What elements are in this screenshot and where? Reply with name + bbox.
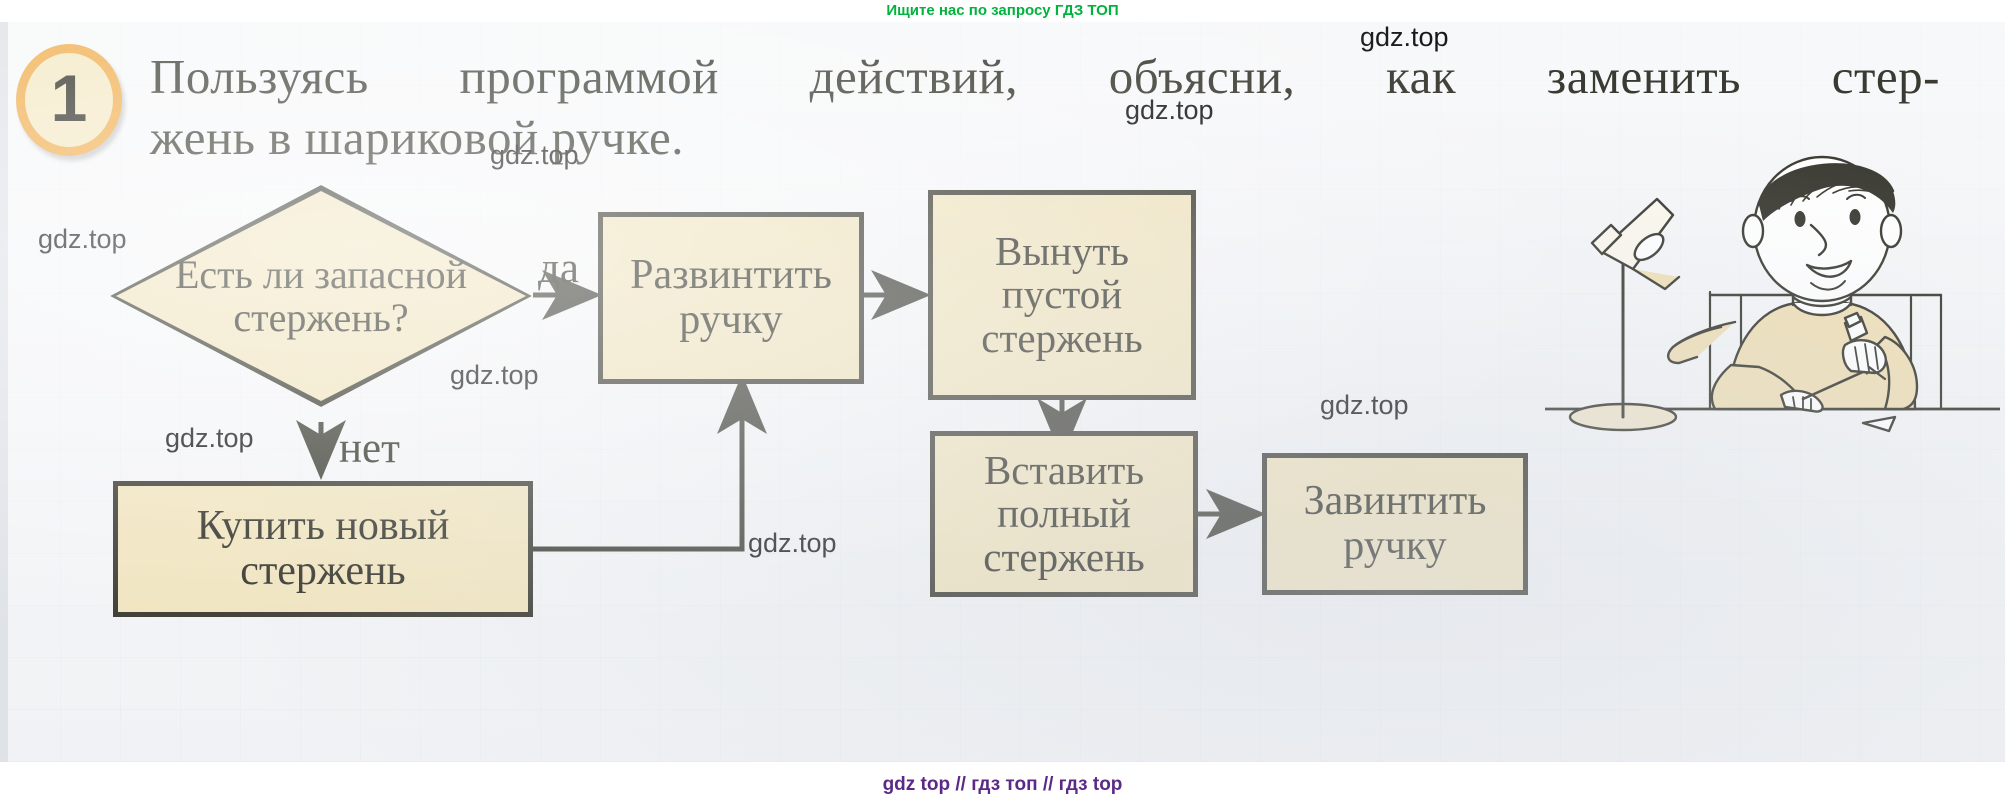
flow-node-screw[interactable]: Завинтить ручку [1262,453,1528,595]
remove-line-3: стержень [973,317,1150,360]
illustration-svg [1545,147,2000,447]
promo-top-banner: Ищите нас по запросу ГДЗ ТОП [0,0,2005,22]
unscrew-line-1: Развинтить [622,253,840,298]
flow-node-decision-label: Есть ли запасной стержень? [110,253,532,339]
watermark: gdz.top [1320,390,1409,421]
flow-node-remove-label: Вынуть пустой стержень [973,230,1150,360]
flow-node-buy[interactable]: Купить новый стержень [113,481,533,617]
watermark: gdz.top [1125,95,1214,126]
flow-node-screw-label: Завинтить ручку [1296,479,1495,568]
decision-line-1: Есть ли [175,252,304,297]
insert-line-2: полный [975,492,1152,535]
edge-buy-to-unscrew [533,384,742,549]
screw-line-2: ручку [1296,524,1495,569]
page-root: Ищите нас по запросу ГДЗ ТОП 1 Пользуясь… [0,0,2005,804]
illustration-boy-at-desk [1545,147,2000,447]
decision-line-2: запасной [314,252,467,297]
watermark: gdz.top [450,360,539,391]
flow-node-remove[interactable]: Вынуть пустой стержень [928,190,1196,400]
insert-line-3: стержень [975,536,1152,579]
remove-line-1: Вынуть [973,230,1150,273]
watermark: gdz.top [38,224,127,255]
remove-line-2: пустой [973,273,1150,316]
buy-line-1: Купить новый [189,504,458,549]
flow-node-insert[interactable]: Вставить полный стержень [930,431,1198,597]
watermark: gdz.top [1360,22,1449,53]
edge-label-yes: да [538,244,579,293]
flow-node-unscrew[interactable]: Развинтить ручку [598,212,864,384]
watermark: gdz.top [748,528,837,559]
watermark: gdz.top [490,140,579,171]
flow-node-unscrew-label: Развинтить ручку [622,253,840,342]
buy-line-2: стержень [189,549,458,594]
screw-line-1: Завинтить [1296,479,1495,524]
unscrew-line-2: ручку [622,298,840,343]
insert-line-1: Вставить [975,449,1152,492]
promo-bottom-banner: gdz top // гдз топ // гдз top [0,762,2005,804]
scanned-page: 1 Пользуясь программой действий, объясни… [0,22,2005,762]
flow-node-insert-label: Вставить полный стержень [975,449,1152,579]
decision-line-3: стержень? [233,295,408,340]
watermark: gdz.top [165,423,254,454]
flow-node-buy-label: Купить новый стержень [189,504,458,593]
edge-label-no: нет [339,424,400,473]
